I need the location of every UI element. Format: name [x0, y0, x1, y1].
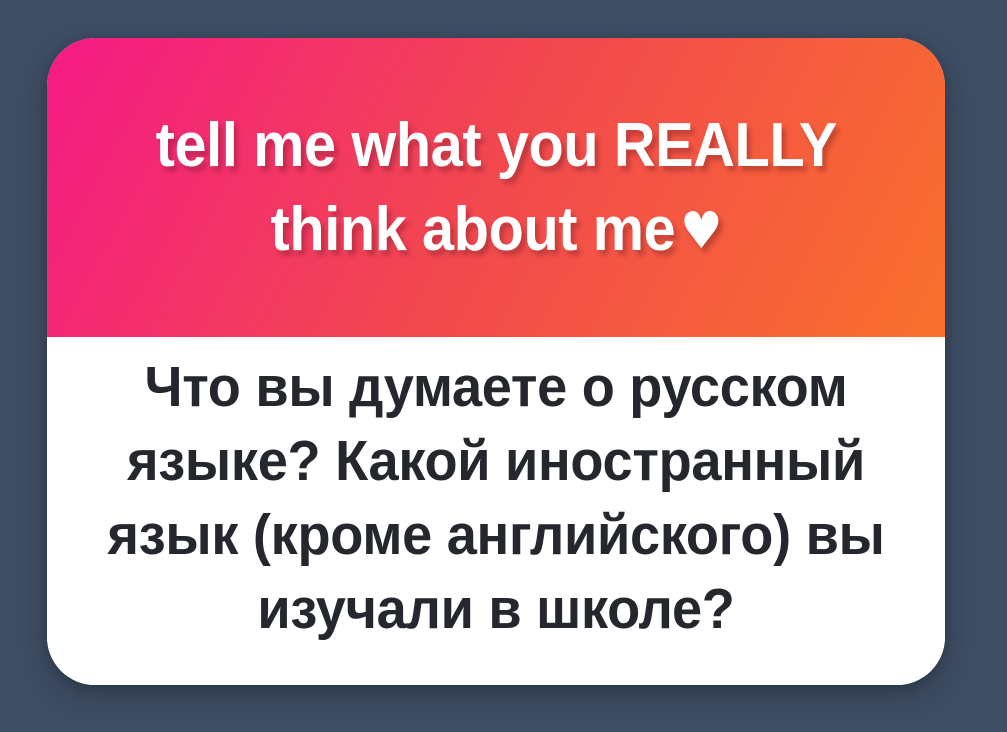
question-prompt-header: tell me what you REALLY think about me♥ [47, 38, 945, 337]
screenshot-canvas: tell me what you REALLY think about me♥ … [0, 0, 1007, 732]
question-answer-text: Что вы думаете о русском языке? Какой ин… [100, 350, 892, 646]
question-prompt-label: tell me what you REALLY think about me [155, 111, 836, 263]
heart-icon: ♥ [680, 206, 722, 257]
question-prompt-text: tell me what you REALLY think about me♥ [155, 104, 836, 270]
question-answer-body[interactable]: Что вы думаете о русском языке? Какой ин… [47, 337, 945, 685]
question-sticker-card[interactable]: tell me what you REALLY think about me♥ … [47, 38, 945, 685]
